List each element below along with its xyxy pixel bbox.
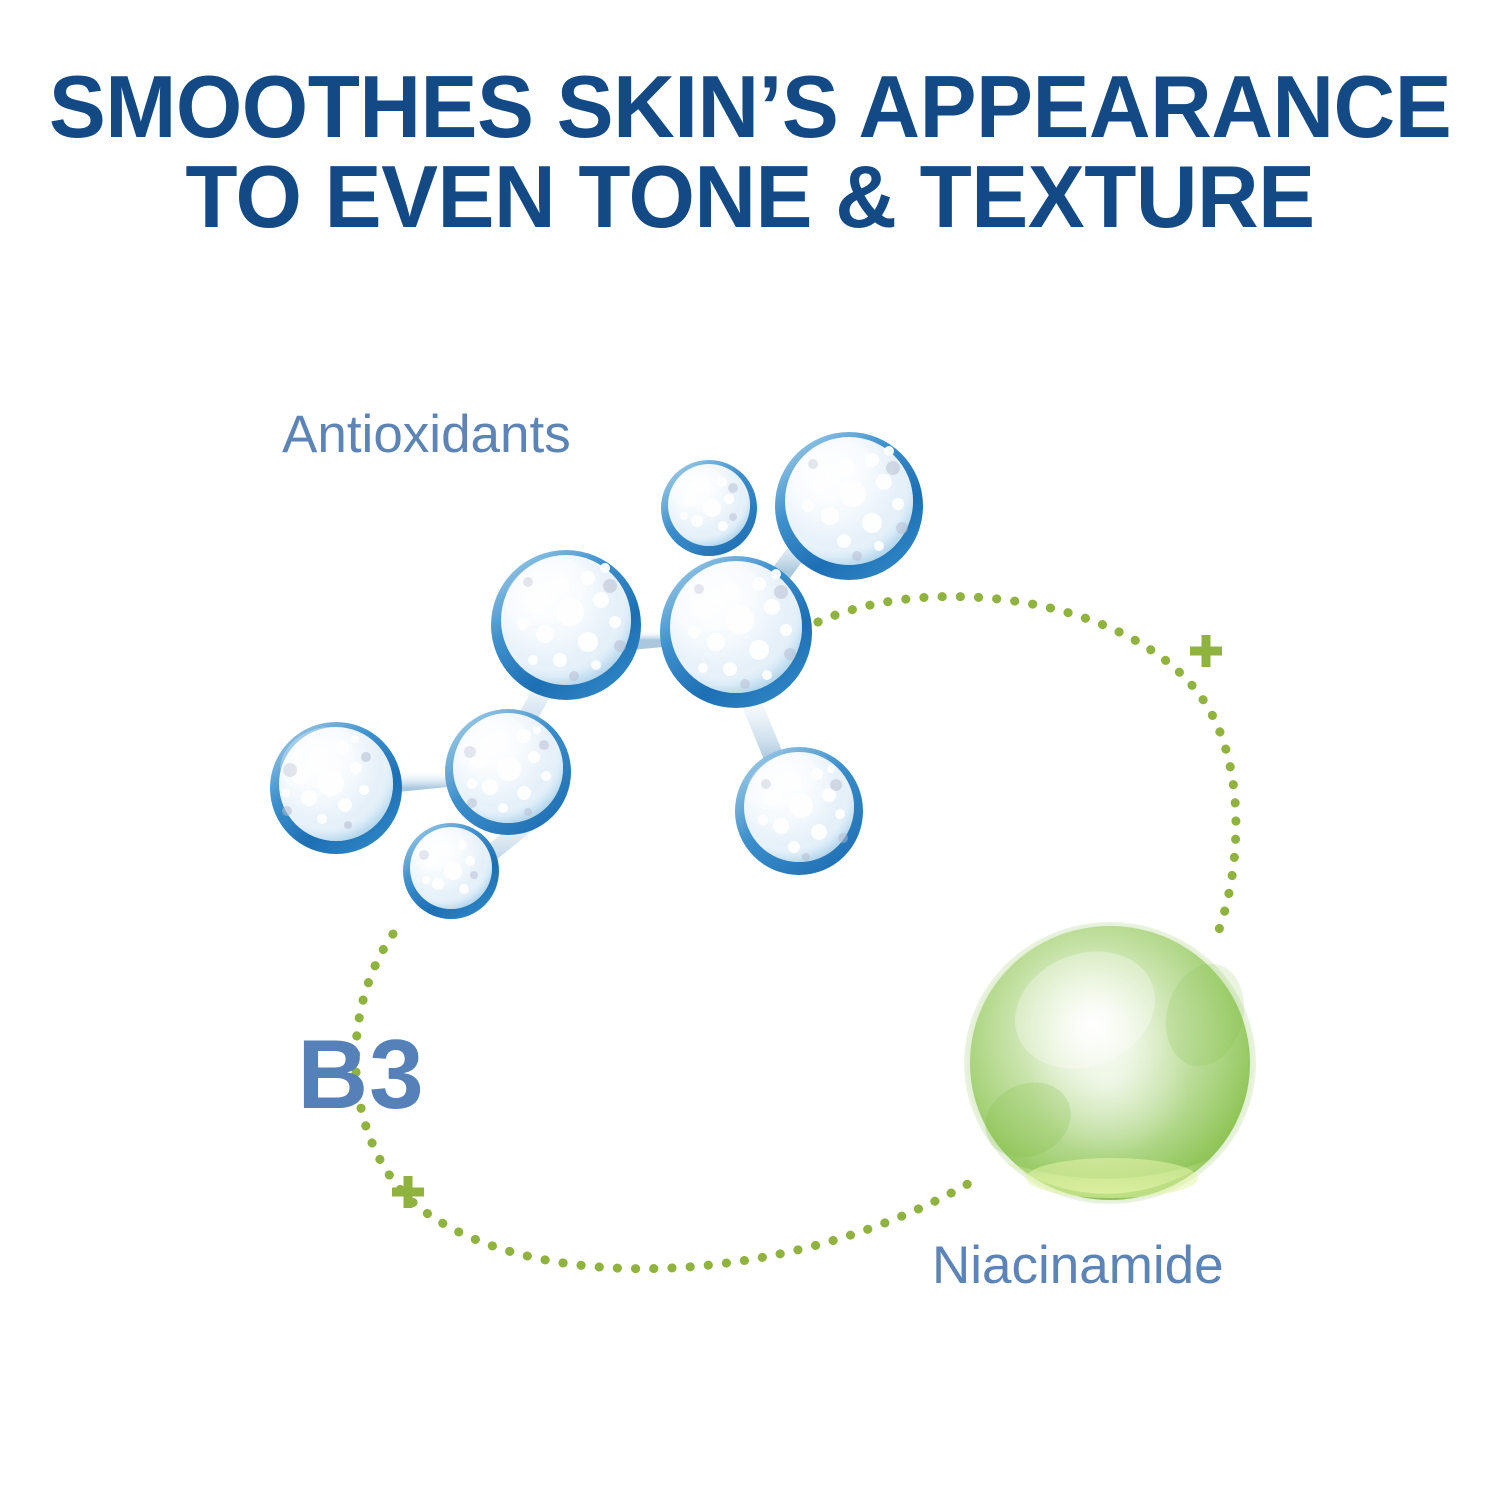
niacinamide-sphere — [964, 922, 1256, 1204]
bubble-big-upper-left — [491, 545, 641, 700]
bubble-lower-right — [735, 743, 863, 875]
bubble-small-top — [661, 459, 757, 556]
bubble-small-bottom — [403, 822, 499, 919]
ingredient-diagram — [0, 0, 1500, 1500]
niacinamide-label: Niacinamide — [932, 1235, 1224, 1296]
bubble-mid-lower — [445, 705, 571, 835]
bubble-left-outer — [270, 714, 402, 854]
bubble-big-top-right — [775, 427, 923, 580]
antioxidant-bubbles — [270, 427, 923, 919]
product-benefit-infographic: SMOOTHES SKIN’S APPEARANCE TO EVEN TONE … — [0, 0, 1500, 1500]
plus-icon-top — [1190, 635, 1222, 667]
plus-icon-bottom — [392, 1176, 424, 1208]
antioxidants-label: Antioxidants — [282, 404, 571, 465]
